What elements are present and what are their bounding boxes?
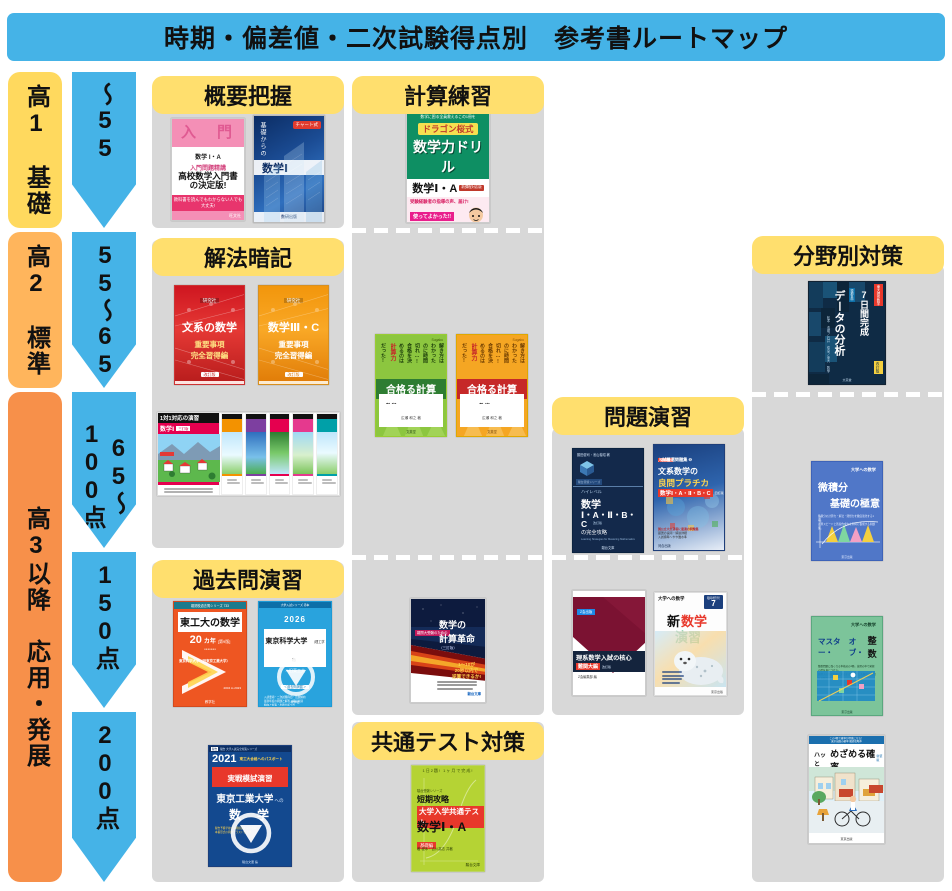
book-hatto-mezameru-kakuritsu[interactable]: この1冊で確率が得意になる！ 東京出版の確率 徹底攻略本 ハッと めざめる確率 … (808, 735, 885, 844)
book-shin-suugaku-issue-num: 7 (707, 600, 720, 608)
book-data-bunseki-title1: 7日間完成 (858, 290, 871, 336)
separator-col2-top (352, 228, 544, 233)
book-goukakuru-3c-v1: 解き方は (519, 343, 526, 365)
book-high-level-title3: C (581, 519, 587, 529)
book-bisekibun-brand: 大学への数学 (812, 462, 882, 473)
book-bunkei-sub1: 重要事項 (175, 339, 244, 350)
book-goukakuru-3c-brand: Sugaku (513, 338, 525, 342)
book-akahon-year: 2026 (284, 615, 306, 624)
book-data-bunseki-authors: 松本 浩明／石井 俊全／東大 数学 (826, 316, 831, 373)
book-suugaku-no-keisan-kakumei[interactable]: 難関大受験のための 数学の 計算革命 〈三訂版〉 1〜10が 20秒以内で 逆算… (410, 598, 486, 703)
book-bunkei-title: 文系の数学 (182, 322, 237, 334)
book-goukakuru-1a2bc-publisher: 文英堂 (376, 429, 446, 434)
book-nyumon-sub1: 数学 I・A (172, 152, 244, 161)
jissen-logo-illustration (209, 810, 291, 856)
book-bisekibun-title2: 基礎の極意 (812, 494, 882, 510)
book-dragon-top-strip: 数学に困る全員救えるこの1冊を (407, 113, 489, 122)
book-nyumon-foot: 教科書を読んでもわからない人でも大丈夫! (172, 195, 244, 211)
book-bunkei-no-suugaku[interactable]: 研究社 文系の数学 重要事項 完全習得編 改訂版 河合出版 (174, 285, 245, 385)
separator-col2-mid (352, 555, 544, 560)
book-bisekibun-kiso-no-gokui[interactable]: 大学への数学 微積分 基礎の極意 微積分の計算力・解法・発想力を徹底強化する1冊… (811, 461, 883, 561)
book-toukoudai-univ: 東京科学大学（旧東京工業大学） (179, 658, 230, 663)
book-master-seisu-brand: 大学への数学 (812, 617, 882, 628)
book-high-level-authors: 藤田健司・池山義昭 著 (577, 452, 610, 457)
book-kakushin-author: Z会編集部 編 (578, 674, 597, 679)
book-goukakuru-1a2bc-v2: わかった (430, 343, 437, 365)
book-goukakuru-keisan-3c[interactable]: Sugaku 解き方は わかった のに時間 切れ…! 合格を決 めるのは 計算力… (456, 334, 528, 437)
stage-koko2: 高2 標準 (8, 232, 62, 388)
ichitaiichi-landscape-illustration (158, 434, 220, 482)
book-data-bunseki-corner: 東大理系数学 (874, 284, 883, 306)
book-platica-title1: 文系数学の (658, 466, 698, 477)
book-data-bunseki-publisher: 文英堂 (809, 378, 885, 382)
master-seisu-grid-illustration (817, 663, 882, 707)
section-kakomon-enshu[interactable]: 過去問演習 (152, 560, 344, 598)
book-ichitaiichi-badge: 三訂版 (176, 426, 190, 431)
arrow-200-label: 200点 (91, 722, 118, 831)
book-goukakuru-1a2bc-author: 広瀬 和之 著 (401, 416, 421, 420)
book-akahon-title: 東京科学大学 (265, 638, 307, 645)
arrow-55-65-label: 55〜65 (91, 242, 118, 379)
book-rikei-kakushin[interactable]: Z会出版 理系数学入試の核心 難関大編 改訂版 Z会編集部 編 (572, 590, 646, 696)
stage-koko3-label: 高3以降 応用・発展 (22, 506, 49, 769)
book-goukakuru-1a2bc-brand: Sugaku (432, 338, 444, 342)
book-akahon-top-label: 大学入試シリーズ 赤本 (259, 602, 331, 608)
book-goukakuru-1a2bc-v8: だった! (380, 343, 387, 365)
book-bunkei-sub2: 完全習得編 (175, 350, 244, 361)
book-suugaku3c-badge: 改訂版 (285, 372, 303, 377)
stage-koko3: 高3以降 応用・発展 (8, 392, 62, 882)
book-goukakuru-3c-v7: 計算力 (469, 343, 478, 365)
book-goukakuru-1a2bc-v6: めるのは (398, 343, 405, 365)
book-chart-kiso-kara-suugaku1[interactable]: 基礎からの チャート式 数学Ⅰ 数研出版 (253, 115, 325, 223)
book-platica-title2: 良問プラチカ (658, 477, 709, 489)
book-hatto-title-small: ハッと (814, 750, 829, 768)
book-bunkei-badge: 改訂版 (201, 372, 219, 377)
book-goukakuru-3c-v2: わかった (511, 343, 518, 365)
book-toukoudai-sub2: カ年 (204, 636, 216, 645)
book-goukakuru-1a2bc-v7: 計算力 (388, 343, 397, 365)
book-high-level-publisher: 駿台文庫 (573, 545, 643, 550)
dragon-student-illustration (465, 206, 487, 222)
book-keisan-kakumei-title2: 計算革命 (439, 632, 475, 645)
book-shin-suugaku-publisher: 東京出版 (711, 690, 723, 694)
book-goukakuru-1a2bc-v1: 解き方は (438, 343, 445, 365)
stage-koko1-label: 高1 基礎 (22, 84, 49, 217)
book-platica-publisher: 河合出版 (658, 543, 671, 548)
section-mondai-enshu[interactable]: 問題演習 (552, 397, 744, 435)
book-tanki-top-label: 1日2題! 1ヶ月で完成! (412, 768, 484, 774)
book-toukoudai-series: 難関校過去問シリーズ 733 (174, 602, 246, 609)
book-high-level-badge: 改訂版 (593, 521, 602, 525)
arrow-150: 150点 (72, 552, 136, 708)
book-jissen-band1: 東工大合格へのパスポート (239, 757, 282, 762)
arrow-55: 〜55 (72, 72, 136, 228)
book-dragon-sub: 数学Ⅰ・A (412, 180, 457, 196)
book-shin-suugaku-enshu[interactable]: 大学への数学 臨時増刊号 7 新 数学 演習 (654, 592, 727, 696)
book-bisekibun-title1: 微積分 (812, 473, 882, 494)
book-dragon-title: 数学力ドリル (413, 139, 483, 175)
book-shin-suugaku-brand: 大学への数学 (658, 596, 684, 602)
book-goukakuru-1a2bc-v4: 切れ…! (414, 343, 421, 365)
book-master-seisu-title2: 整数 (868, 634, 882, 660)
book-goukakuru-3c-v3: のに時間 (503, 343, 510, 365)
book-data-bunseki-badge-left: 短期集中 (849, 288, 855, 302)
book-kakushin-brand: Z会出版 (577, 609, 595, 615)
book-suugaku3c-sub2: 完全習得編 (259, 350, 328, 361)
book-tanki-title3: 数学Ⅰ・A (417, 818, 466, 835)
book-suugaku3c-sub1: 重要事項 (259, 339, 328, 350)
book-ichitaiichi-title: 1対1対応の演習 (158, 413, 219, 423)
akahon-logo-illustration (259, 657, 331, 697)
book-high-level-title4: の完全攻略 (581, 529, 607, 536)
chart-city-illustration (254, 116, 324, 222)
book-goukakuru-3c-v4: 切れ…! (495, 343, 502, 365)
book-master-seisu-publisher: 東京出版 (812, 710, 882, 714)
arrow-65-100-label: 65〜100点 (77, 402, 131, 548)
book-nyumon-title-2: の決定版! (172, 181, 244, 191)
book-tanki-kouryaku-kyotsu-test[interactable]: 1日2題! 1ヶ月で完成! 駿台受験シリーズ 短期攻略 大学入学共通テスト 数学… (411, 765, 485, 872)
book-platica-series: 入試精選問題集 ❺ (658, 457, 692, 463)
book-data-bunseki-title2: データの分析 (831, 290, 847, 356)
bisekibun-cones-illustration (812, 512, 882, 552)
book-hatto-publisher: 東京出版 (809, 837, 884, 841)
book-jissen-year: 2021 (212, 753, 236, 765)
book-goukakuru-3c-v5: 合格を決 (487, 343, 494, 365)
book-platica-sub: 数学Ⅰ・A・Ⅱ・B・C (658, 489, 713, 497)
book-akahon-publisher: 教学社 (259, 700, 331, 704)
separator-col3-mid (552, 555, 744, 560)
book-master-seisu-title1b: オブ・ (849, 636, 867, 658)
book-suugaku3c-title: 数学Ⅲ・C (268, 322, 319, 334)
book-keisan-kakumei-sub: 〈三訂版〉 (439, 646, 475, 651)
book-jissen-top-label: 駿台 大学入試完全対策シリーズ (220, 747, 257, 751)
book-ichitaiichi-sub: 数学Ⅰ (160, 424, 174, 433)
section-bunyabetsu[interactable]: 分野別対策 (752, 236, 944, 274)
section-keisan-renshu-label: 計算練習 (404, 79, 492, 111)
book-tanki-title1: 短期攻略 (417, 794, 449, 805)
book-toukoudai-title: 東工大の数学 (180, 618, 240, 629)
book-jissen-publisher: 駿台文庫 編 (209, 860, 291, 864)
route-map-page: 時期・偏差値・二次試験得点別 参考書ルートマップ 高1 基礎 高2 標準 高3以… (0, 0, 952, 891)
book-high-level-kanzen-kouryaku[interactable]: 藤田健司・池山義昭 著 駿台受験シリーズ ハイレベル 数学 Ⅰ・A・Ⅱ・B・ C… (572, 448, 644, 553)
arrow-55-label: 〜55 (91, 82, 118, 163)
book-kakushin-title: 理系数学入試の核心 (576, 653, 642, 662)
book-bunkei-platica[interactable]: 河合塾 入試精選問題集 ❺ 文系数学の 良問プラチカ 数学Ⅰ・A・Ⅱ・B・C 四… (653, 444, 725, 551)
book-platica-badge: 四訂版 (715, 491, 724, 495)
book-goukakuru-3c-v6: めるのは (479, 343, 486, 365)
book-tanki-series: 駿台受験シリーズ (417, 788, 442, 793)
book-toukoudai-badge: [第9版] (218, 639, 230, 645)
book-suugaku3c-juyou[interactable]: 研究社 数学Ⅲ・C 重要事項 完全習得編 改訂版 河合出版 (258, 285, 329, 385)
book-dragon-brand: ドラゴン桜式 (418, 123, 477, 135)
book-tanki-authors: 著 榎本・吉川高志 共著 (417, 846, 453, 851)
book-jissen-mosi-enshu-2021[interactable]: 駿台 駿台 大学入試完全対策シリーズ 2021 東工大合格へのパスポート 実戦模… (208, 745, 292, 867)
section-mondai-enshu-label: 問題演習 (604, 400, 692, 432)
stage-koko2-label: 高2 標準 (22, 244, 49, 377)
book-dragon-promo2: 使ってよかった!! (410, 212, 454, 221)
book-kakushin-sub: 難関大編 (576, 663, 600, 670)
book-goukakuru-keisan-1a2bc[interactable]: Sugaku 解き方は わかった のに時間 切れ…! 合格を決 めるのは 計算力… (375, 334, 447, 437)
book-nanoka-data-bunseki[interactable]: 東大理系数学 短期集中 7日間完成 データの分析 松本 浩明／石井 俊全／東大 … (808, 281, 886, 385)
book-nyumon-publisher: 旺文社 (229, 213, 241, 219)
arrow-200: 200点 (72, 712, 136, 882)
arrow-55-65: 55〜65 (72, 232, 136, 388)
section-kyotsu-test[interactable]: 共通テスト対策 (352, 722, 544, 760)
book-jissen-title1: 東京工業大学 (216, 791, 273, 805)
separator-col4-mid (752, 392, 944, 397)
book-tanki-publisher: 駿台文庫 (466, 863, 480, 868)
book-high-level-en: Learning Strategies for Mastering Mathem… (581, 538, 639, 541)
book-bisekibun-publisher: 東京出版 (812, 555, 882, 559)
book-high-level-level: ハイレベル (581, 489, 602, 495)
book-goukakuru-3c-v8: だった! (461, 343, 468, 365)
arrow-65-100: 65〜100点 (72, 392, 136, 548)
book-tokyo-kagaku-univ-akahon[interactable]: 大学入試シリーズ 赤本 2026 東京科学大学 （理工学院） ＊旧東工大 ＜過去… (258, 601, 332, 707)
section-kaihou-anki[interactable]: 解法暗記 (152, 238, 344, 276)
book-nyumon-mondai-seiko[interactable]: 入 門 数学 I・A 入門問題精講 高校数学入門書 の決定版! 教科書を読んでも… (171, 118, 245, 221)
book-hatto-top-line2: 東京出版の確率 徹底攻略本 (809, 740, 884, 743)
section-kyotsu-test-label: 共通テスト対策 (371, 725, 525, 757)
book-hatto-badge: 新装版 (876, 754, 884, 762)
section-gaiyou-haaku[interactable]: 概要把握 (152, 76, 344, 114)
book-high-level-series: 駿台受験シリーズ (576, 479, 602, 485)
stage-koko1: 高1 基礎 (8, 72, 62, 228)
book-goukakuru-3c-author: 広瀬 和之 著 (482, 416, 502, 420)
section-kakomon-enshu-label: 過去問演習 (193, 563, 303, 595)
book-master-seisu-title1: マスター・ (818, 636, 848, 658)
book-toukoudai-years: 2004 to 2023 (223, 686, 241, 690)
book-goukakuru-1a2bc-v3: のに時間 (422, 343, 429, 365)
section-gaiyou-haaku-label: 概要把握 (204, 79, 292, 111)
book-nyumon-top-label: 入 門 (181, 125, 235, 141)
page-title: 時期・偏差値・二次試験得点別 参考書ルートマップ (7, 13, 945, 61)
book-jissen-title1b: への (274, 798, 283, 804)
book-toukoudai-publisher: 教学社 (174, 699, 246, 704)
book-toukoudai-sub1: 20 (190, 634, 202, 646)
book-goukakuru-3c-publisher: 文英堂 (457, 429, 527, 434)
section-bunyabetsu-label: 分野別対策 (793, 239, 903, 271)
section-kaihou-anki-label: 解法暗記 (204, 241, 292, 273)
arrow-150-label: 150点 (91, 562, 118, 671)
book-keisan-kakumei-title1: 数学の (439, 618, 475, 631)
book-keisan-kakumei-publisher: 駿台文庫 (467, 692, 481, 696)
book-data-bunseki-badge: 改訂版 (874, 361, 883, 374)
book-dragon-zakura-drill[interactable]: 数学に困る全員救えるこの1冊を ドラゴン桜式 数学力ドリル 数学Ⅰ・A 新課程対… (406, 112, 490, 223)
book-goukakuru-1a2bc-v5: 合格を決 (406, 343, 413, 365)
book-high-level-title2: Ⅰ・A・Ⅱ・B・ (581, 509, 636, 521)
book-platica-foot3: 入試標準〜やや難水準 (658, 535, 698, 539)
hatto-town-illustration (809, 767, 884, 833)
book-dragon-promo1: 受験経験者の指導の声、届け! (410, 199, 486, 205)
book-jissen-band2: 実戦模試演習 (228, 774, 273, 783)
book-kakushin-badge: 改訂版 (602, 665, 611, 669)
section-keisan-renshu[interactable]: 計算練習 (352, 76, 544, 114)
book-toukoudai-no-suugaku-20[interactable]: 難関校過去問シリーズ 733 東工大の数学 20 カ年 [第9版] ●●●●●●… (173, 601, 247, 707)
book-ichitaiichi-taiou[interactable]: 1対1対応の演習 数学Ⅰ 三訂版 (157, 412, 340, 496)
book-master-of-seisu[interactable]: 大学への数学 マスター・ オブ・ 整数 整数問題に強くなる本格派の1冊。演習の中… (811, 616, 883, 716)
book-dragon-badge: 新課程対応版 (459, 185, 483, 191)
high-level-cube-icon (577, 459, 597, 477)
